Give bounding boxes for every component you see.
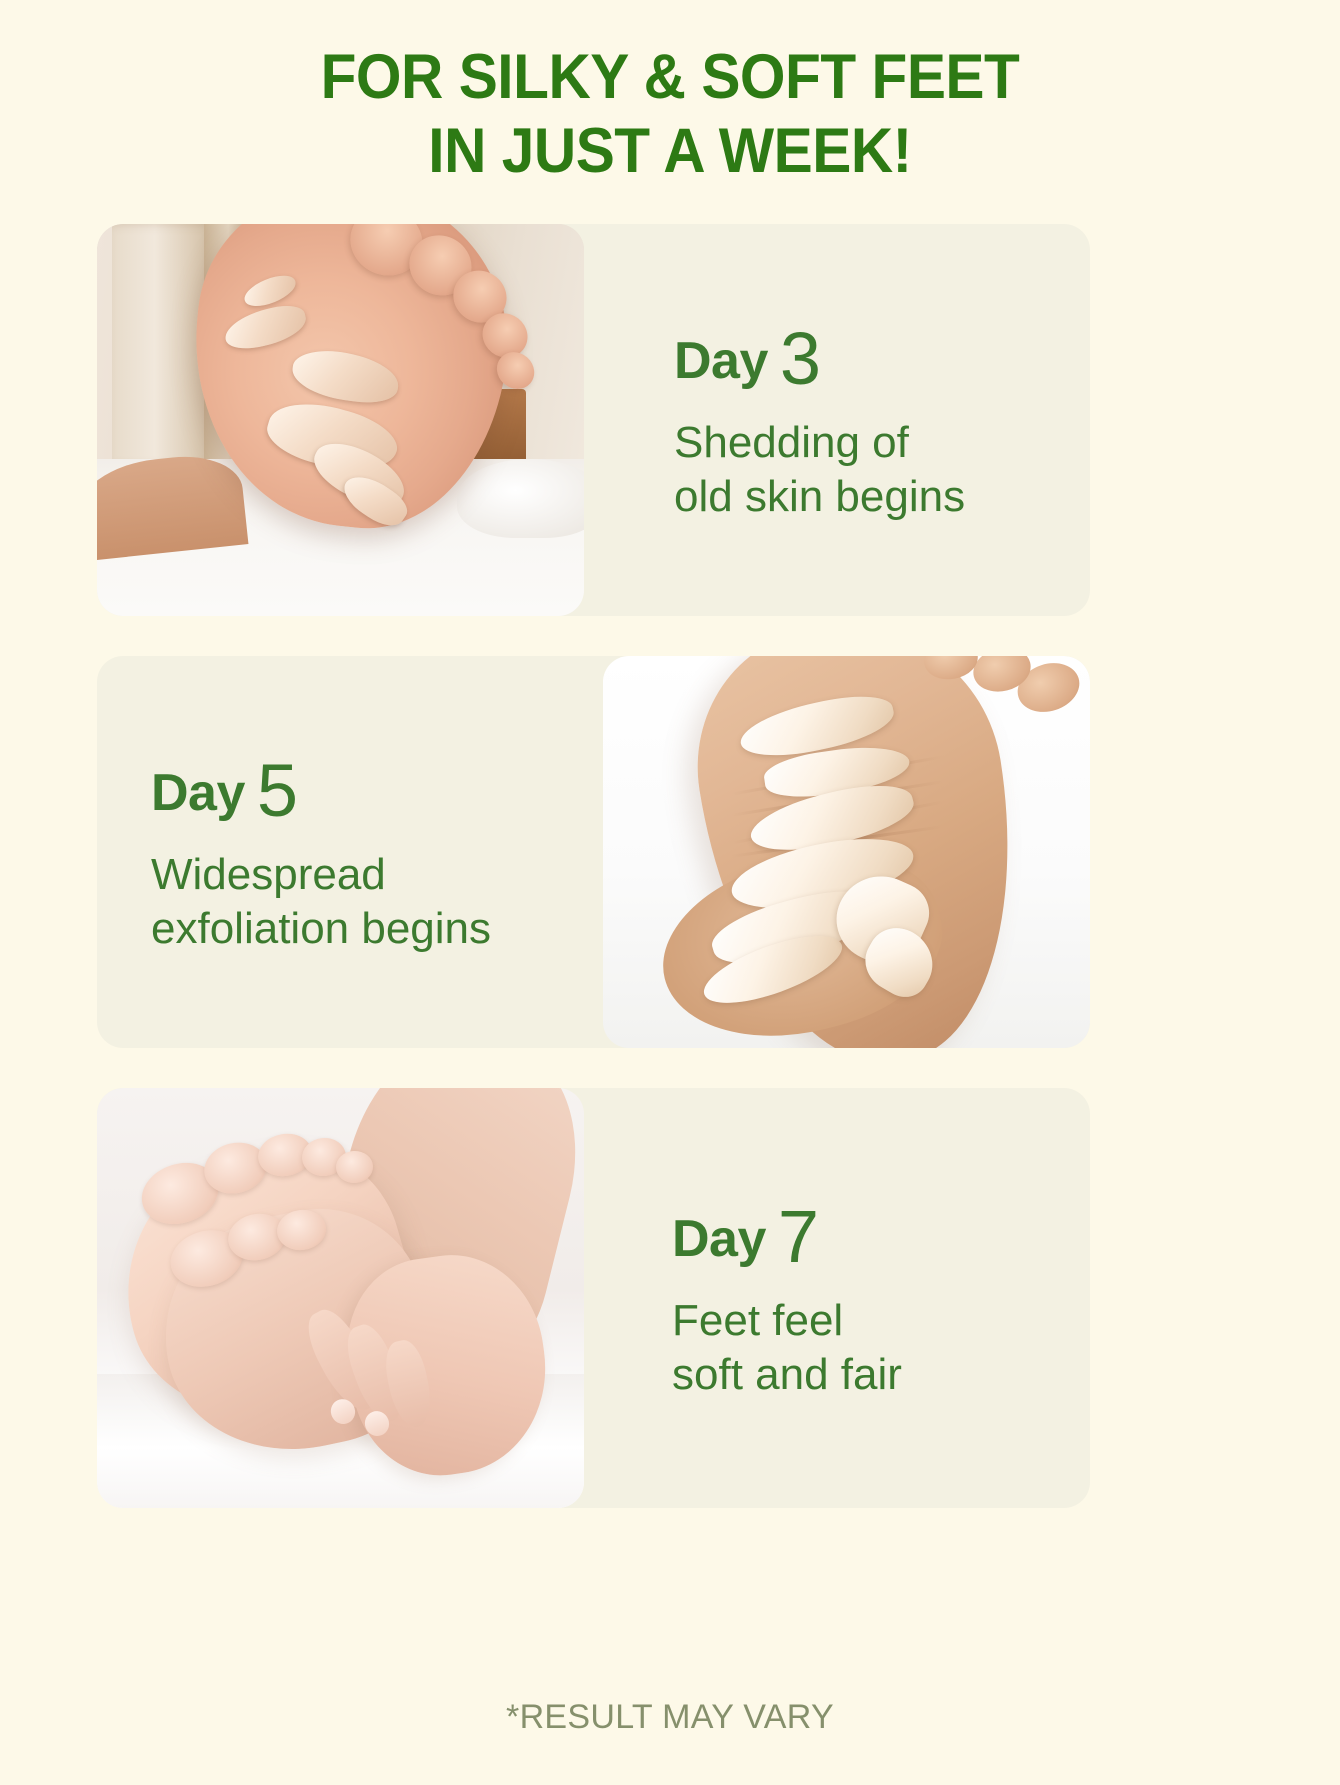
step-copy-day-5: Day5 Widespread exfoliation begins bbox=[97, 656, 603, 1048]
photo-pillow bbox=[457, 459, 584, 537]
result-disclaimer: *RESULT MAY VARY bbox=[0, 1698, 1340, 1737]
step-description-line-1: Shedding of bbox=[674, 416, 1090, 470]
step-photo-day-7 bbox=[97, 1088, 584, 1508]
page-title: FOR SILKY & SOFT FEET IN JUST A WEEK! bbox=[47, 40, 1293, 189]
step-heading-day-7: Day7 bbox=[672, 1194, 1090, 1268]
step-copy-day-7: Day7 Feet feel soft and fair bbox=[584, 1088, 1090, 1508]
step-card-day-7: Day7 Feet feel soft and fair bbox=[97, 1088, 1090, 1508]
step-description-line-2: exfoliation begins bbox=[151, 902, 563, 956]
page-title-line-2: IN JUST A WEEK! bbox=[47, 114, 1293, 188]
step-description-line-1: Feet feel bbox=[672, 1294, 1090, 1348]
step-description-day-3: Shedding of old skin begins bbox=[674, 416, 1090, 523]
step-description-day-7: Feet feel soft and fair bbox=[672, 1294, 1090, 1401]
day-label: Day bbox=[151, 764, 245, 822]
infographic-page: FOR SILKY & SOFT FEET IN JUST A WEEK! bbox=[0, 0, 1340, 1785]
step-card-day-3: Day3 Shedding of old skin begins bbox=[97, 224, 1090, 616]
step-description-line-2: old skin begins bbox=[674, 470, 1090, 524]
step-photo-day-5 bbox=[603, 656, 1090, 1048]
step-description-line-1: Widespread bbox=[151, 848, 563, 902]
step-heading-day-3: Day3 bbox=[674, 316, 1090, 390]
day-number: 7 bbox=[778, 1195, 819, 1278]
day-label: Day bbox=[672, 1210, 766, 1268]
step-photo-day-3 bbox=[97, 224, 584, 616]
photo-toe bbox=[335, 1150, 373, 1183]
day-number: 3 bbox=[780, 317, 821, 400]
step-heading-day-5: Day5 bbox=[151, 748, 563, 822]
day-label: Day bbox=[674, 332, 768, 390]
step-description-line-2: soft and fair bbox=[672, 1348, 1090, 1402]
step-card-day-5: Day5 Widespread exfoliation begins bbox=[97, 656, 1090, 1048]
photo-leg bbox=[97, 451, 248, 562]
day-number: 5 bbox=[257, 749, 298, 832]
page-title-line-1: FOR SILKY & SOFT FEET bbox=[47, 40, 1293, 114]
step-copy-day-3: Day3 Shedding of old skin begins bbox=[584, 224, 1090, 616]
step-description-day-5: Widespread exfoliation begins bbox=[151, 848, 563, 955]
